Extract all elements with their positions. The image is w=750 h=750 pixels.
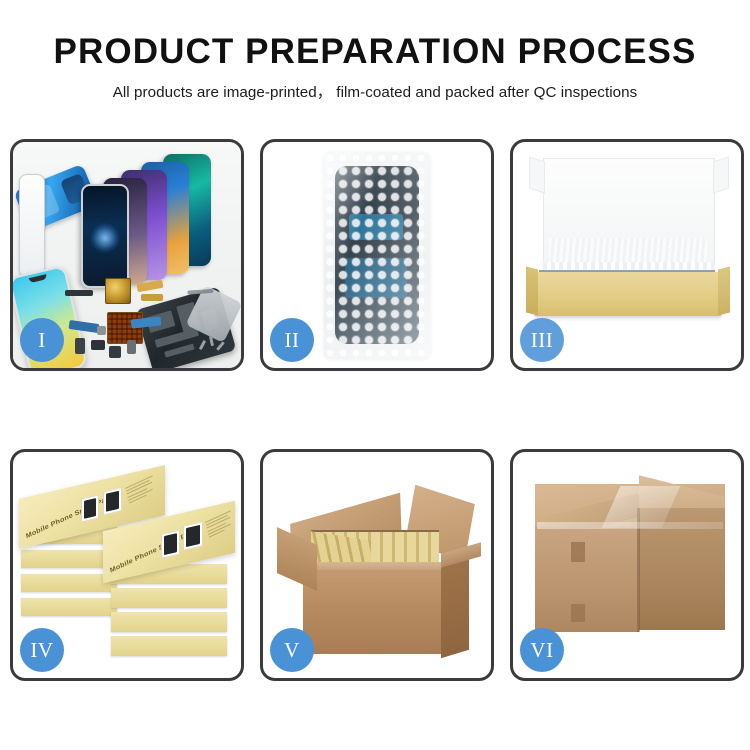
process-step-card-5: V: [260, 449, 494, 681]
small-part-1-icon: [75, 338, 85, 354]
step-badge-3-label: III: [531, 328, 553, 353]
carton-front-face-icon: [303, 570, 447, 654]
process-step-card-4: Mobile Phone Spare Parts: [10, 449, 244, 681]
earpiece-mesh-icon: [65, 290, 93, 296]
box-slab-r2: [111, 588, 227, 608]
small-part-2-icon: [91, 340, 105, 350]
page-subtitle: All products are image-printed， film-coa…: [0, 80, 750, 102]
small-part-4-icon: [127, 340, 136, 354]
product-preparation-infographic: PRODUCT PREPARATION PROCESS All products…: [0, 0, 750, 750]
carton-tape-tab-lower-icon: [571, 604, 585, 622]
carton-side-face-icon: [441, 558, 469, 659]
small-part-5-icon: [97, 326, 106, 335]
carton-tape-tab-upper-icon: [571, 542, 585, 562]
process-step-card-3: III: [510, 139, 744, 371]
step-badge-2: II: [270, 318, 314, 362]
process-step-grid: I II: [10, 139, 744, 681]
process-step-card-1: I: [10, 139, 244, 371]
step-badge-4-label: IV: [30, 638, 53, 663]
header: PRODUCT PREPARATION PROCESS All products…: [0, 0, 750, 102]
speaker-coil-icon: [105, 278, 131, 304]
step-badge-6-label: VI: [530, 638, 553, 663]
screws-icon: [199, 332, 233, 354]
screen-graphic-icon: [90, 223, 120, 253]
step-badge-3: III: [520, 318, 564, 362]
flex-cable-blue-icon: [69, 320, 100, 333]
step-badge-6: VI: [520, 628, 564, 672]
box-slab-l4: [21, 598, 117, 616]
film-sheen: [324, 152, 430, 358]
screen-protector-glass-icon: [19, 174, 45, 278]
step-badge-1: I: [20, 318, 64, 362]
box-window-rear-2: [103, 487, 122, 515]
phone-screen-fan: [67, 154, 237, 286]
process-step-card-2: II: [260, 139, 494, 371]
box-slab-r4: [111, 636, 227, 656]
box-window-front-1: [161, 529, 180, 558]
box-window-front-2: [183, 521, 203, 551]
step-badge-1-label: I: [38, 328, 46, 353]
page-title: PRODUCT PREPARATION PROCESS: [0, 34, 750, 71]
kraft-inner-box-icon: [535, 272, 721, 316]
phone-screen-dark-icon: [81, 184, 129, 288]
flex-cable-blue-2-icon: [131, 316, 162, 328]
step-badge-5-label: V: [284, 638, 300, 663]
step-badge-2-label: II: [285, 328, 300, 353]
box-window-rear-1: [81, 494, 99, 522]
sealed-carton-front-icon: [535, 526, 639, 632]
process-step-card-6: VI: [510, 449, 744, 681]
small-part-3-icon: [109, 346, 121, 358]
box-slab-r3: [111, 612, 227, 632]
box-spec-lines-rear: [125, 474, 159, 505]
step-badge-5: V: [270, 628, 314, 672]
step-badge-4: IV: [20, 628, 64, 672]
bubble-wrap-bag-icon: [324, 152, 430, 358]
flex-cable-gold-2-icon: [141, 294, 163, 301]
spare-parts-cluster: [71, 294, 191, 368]
contact-pad-grid-icon: [107, 312, 143, 344]
box-spec-lines-front: [205, 509, 237, 539]
